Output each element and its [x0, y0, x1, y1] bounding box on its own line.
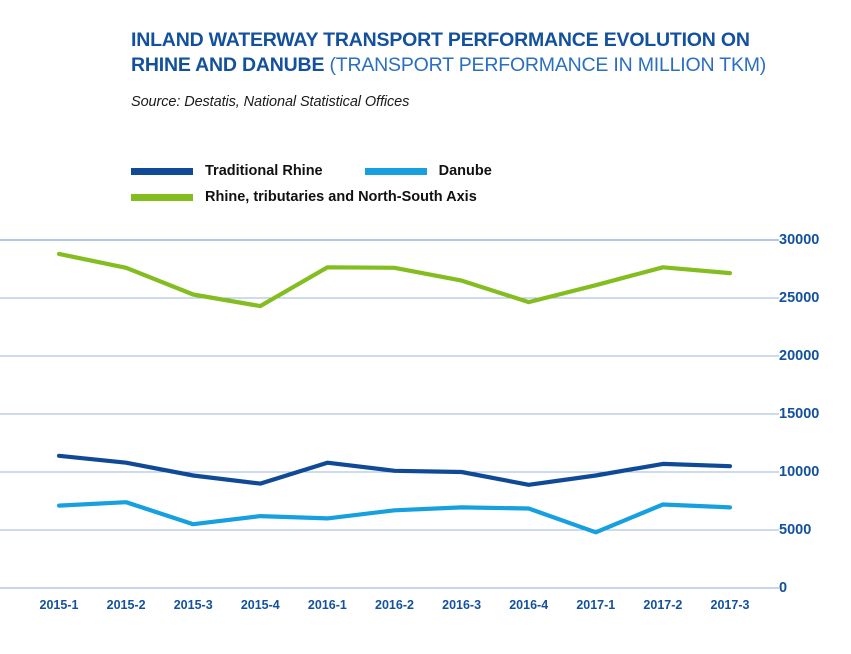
x-tick-label-2016-1: 2016-1 — [308, 598, 347, 612]
x-tick-label-2015-2: 2015-2 — [107, 598, 146, 612]
legend-swatch-danube — [365, 168, 427, 175]
title-light-part: (TRANSPORT PERFORMANCE IN MILLION TKM) — [329, 54, 766, 76]
x-tick-label-2015-1: 2015-1 — [40, 598, 79, 612]
x-tick-label-2017-2: 2017-2 — [643, 598, 682, 612]
chart-header: INLAND WATERWAY TRANSPORT PERFORMANCE EV… — [131, 28, 791, 110]
y-tick-label-0: 0 — [779, 580, 787, 596]
series-line-traditional-rhine — [59, 456, 730, 485]
line-chart-svg — [0, 222, 851, 597]
chart-legend: Traditional Rhine Danube Rhine, tributar… — [131, 158, 791, 210]
page-title: INLAND WATERWAY TRANSPORT PERFORMANCE EV… — [131, 28, 791, 78]
x-tick-label-2016-4: 2016-4 — [509, 598, 548, 612]
legend-row-2: Rhine, tributaries and North-South Axis — [131, 184, 791, 210]
x-tick-label-2017-3: 2017-3 — [711, 598, 750, 612]
legend-row-1: Traditional Rhine Danube — [131, 158, 791, 184]
legend-label-rhine-tributaries: Rhine, tributaries and North-South Axis — [193, 189, 477, 205]
y-tick-label-15000: 15000 — [779, 406, 819, 422]
chart-gridlines — [0, 240, 779, 588]
x-tick-label-2015-4: 2015-4 — [241, 598, 280, 612]
legend-swatch-traditional-rhine — [131, 168, 193, 175]
legend-swatch-rhine-tributaries — [131, 194, 193, 201]
x-tick-label-2015-3: 2015-3 — [174, 598, 213, 612]
y-tick-label-20000: 20000 — [779, 348, 819, 364]
legend-label-danube: Danube — [427, 163, 492, 179]
series-line-danube — [59, 502, 730, 532]
y-tick-label-10000: 10000 — [779, 464, 819, 480]
chart-plot-area — [0, 222, 851, 597]
y-tick-label-30000: 30000 — [779, 232, 819, 248]
x-tick-label-2016-3: 2016-3 — [442, 598, 481, 612]
legend-item-danube[interactable]: Danube — [365, 163, 492, 179]
y-tick-label-25000: 25000 — [779, 290, 819, 306]
chart-series-lines — [59, 254, 730, 532]
x-axis: 2015-12015-22015-32015-42016-12016-22016… — [0, 598, 851, 620]
x-tick-label-2016-2: 2016-2 — [375, 598, 414, 612]
y-axis: 050001000015000200002500030000 — [779, 222, 851, 597]
x-tick-label-2017-1: 2017-1 — [576, 598, 615, 612]
chart-source-note: Source: Destatis, National Statistical O… — [131, 78, 791, 110]
legend-item-traditional-rhine[interactable]: Traditional Rhine — [131, 163, 323, 179]
legend-item-rhine-tributaries[interactable]: Rhine, tributaries and North-South Axis — [131, 189, 477, 205]
legend-label-traditional-rhine: Traditional Rhine — [193, 163, 323, 179]
y-tick-label-5000: 5000 — [779, 522, 811, 538]
